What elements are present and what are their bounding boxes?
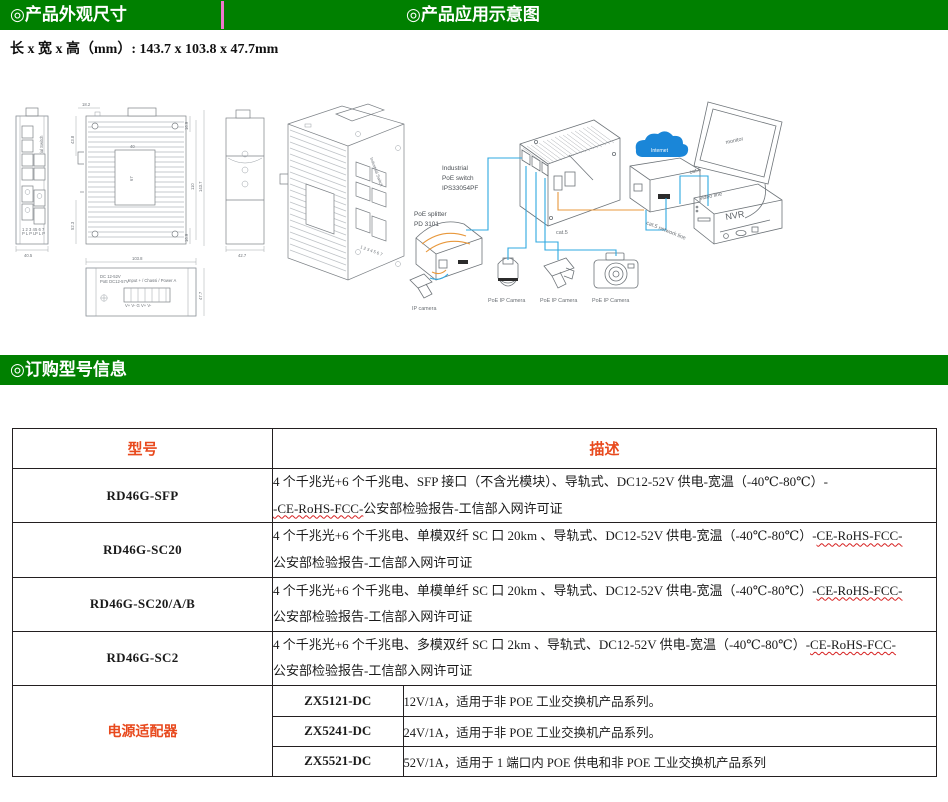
svg-text:V+ V- G V+ V-: V+ V- G V+ V- xyxy=(125,303,152,308)
technical-drawing-figure: Industrial Switch 1 2 3 4 5 xyxy=(0,88,420,328)
table-row: RD46G-SFP 4 个千兆光+6 个千兆电、SFP 接口（不含光模块）、导轨… xyxy=(13,469,937,523)
application-section-title: ◎产品应用示意图 xyxy=(406,0,540,30)
cat5-left-label: cat.5 xyxy=(556,230,568,236)
nvr-label: NVR xyxy=(725,209,746,222)
adapter-description: 52V/1A，适用于 1 端口内 POE 供电和非 POE 工业交换机产品系列 xyxy=(403,746,936,776)
view-top-heatsink: 40 67 18.2 43.8 52.3 16.9 xyxy=(70,102,204,246)
svg-text:110: 110 xyxy=(190,183,195,190)
desc-cert-marked: CE-RoHS-FCC- xyxy=(810,637,896,652)
video-line-label: video line xyxy=(699,191,723,202)
dimension-caption: 长 x 宽 x 高（mm）: 143.7 x 103.8 x 47.7mm xyxy=(10,38,278,58)
header-description: 描述 xyxy=(273,429,937,469)
svg-text:PoE DC12-57V: PoE DC12-57V xyxy=(100,279,129,284)
svg-text:143.7: 143.7 xyxy=(198,181,203,192)
adapter-model: ZX5521-DC xyxy=(273,746,403,776)
model-description: 4 个千兆光+6 个千兆电、多模双纤 SC 口 2km 、导轨式、DC12-52… xyxy=(273,631,937,685)
poe-camera-1: PoE IP Camera xyxy=(488,258,525,304)
desc-line-2: 公安部检验报告-工信部入网许可证 xyxy=(273,555,472,570)
adapter-subtable: ZX5121-DC 12V/1A，适用于非 POE 工业交换机产品系列。 ZX5… xyxy=(273,686,936,776)
camera-2-label: PoE IP Camera xyxy=(540,298,577,304)
poe-camera-3: PoE IP Camera xyxy=(592,253,638,304)
adapter-model: ZX5241-DC xyxy=(273,716,403,746)
router-box xyxy=(630,158,700,212)
application-diagram-figure: Industrial PoE switch IPS33054PF Interne… xyxy=(408,88,808,328)
desc-line-1: 4 个千兆光+6 个千兆电、多模双纤 SC 口 2km 、导轨式、DC12-52… xyxy=(273,637,810,652)
desc-line-1: 4 个千兆光+6 个千兆电、SFP 接口（不含光模块）、导轨式、DC12-52V… xyxy=(273,474,828,489)
svg-text:1 2 3 4 5 6 7: 1 2 3 4 5 6 7 xyxy=(360,244,384,257)
svg-text:Industrial Switch: Industrial Switch xyxy=(369,157,384,188)
desc-cert-marked: CE-RoHS-FCC- xyxy=(817,528,903,543)
adapter-subtable-cell: ZX5121-DC 12V/1A，适用于非 POE 工业交换机产品系列。 ZX5… xyxy=(273,686,937,777)
svg-text:16.9: 16.9 xyxy=(184,233,189,242)
camera-1-label: PoE IP Camera xyxy=(488,298,525,304)
industrial-switch-label-line1: Industrial xyxy=(442,165,468,172)
svg-text:Internet: Internet xyxy=(651,148,669,154)
nvr-illustration: NVR xyxy=(694,184,782,244)
view-isometric: Industrial Switch 1 2 3 4 5 6 7 xyxy=(280,104,404,280)
desc-line-2: 公安部检验报告-工信部入网许可证 xyxy=(363,501,562,516)
adapter-row: ZX5121-DC 12V/1A，适用于非 POE 工业交换机产品系列。 xyxy=(273,686,936,716)
model-description: 4 个千兆光+6 个千兆电、SFP 接口（不含光模块）、导轨式、DC12-52V… xyxy=(273,469,937,523)
adapter-description: 12V/1A，适用于非 POE 工业交换机产品系列。 xyxy=(403,686,936,716)
desc-line-2: 公安部检验报告-工信部入网许可证 xyxy=(273,609,472,624)
model-name: RD46G-SC2 xyxy=(13,631,273,685)
model-name: RD46G-SC20/A/B xyxy=(13,577,273,631)
ordering-section-header-bar: ◎订购型号信息 xyxy=(0,355,948,385)
adapter-group-row: 电源适配器 ZX5121-DC 12V/1A，适用于非 POE 工业交换机产品系… xyxy=(13,686,937,777)
view-bottom-terminal: DC 12-52V PoE DC12-57V Input + / Chassi … xyxy=(86,256,204,316)
model-description: 4 个千兆光+6 个千兆电、单模双纤 SC 口 20km 、导轨式、DC12-5… xyxy=(273,523,937,577)
header-divider xyxy=(221,1,224,29)
camera-3-label: PoE IP Camera xyxy=(592,298,629,304)
table-row: RD46G-SC20/A/B 4 个千兆光+6 个千兆电、单模单纤 SC 口 2… xyxy=(13,577,937,631)
table-header-row: 型号 描述 xyxy=(13,429,937,469)
model-description: 4 个千兆光+6 个千兆电、单模单纤 SC 口 20km 、导轨式、DC12-5… xyxy=(273,577,937,631)
view-side: 42.7 xyxy=(226,110,264,258)
adapter-row: ZX5521-DC 52V/1A，适用于 1 端口内 POE 供电和非 POE … xyxy=(273,746,936,776)
svg-text:42.7: 42.7 xyxy=(238,253,247,258)
header-model: 型号 xyxy=(13,429,273,469)
svg-text:40.5: 40.5 xyxy=(24,253,33,258)
poe-splitter-illustration: PoE splitter PD 3101 IP camera xyxy=(410,211,482,312)
svg-text:16.9: 16.9 xyxy=(184,121,189,130)
svg-text:18.2: 18.2 xyxy=(82,102,91,107)
desc-line-2: 公安部检验报告-工信部入网许可证 xyxy=(273,663,472,678)
svg-text:40: 40 xyxy=(130,144,135,149)
svg-text:P L P: P L P xyxy=(35,231,45,236)
view-front-ports: Industrial Switch 1 2 3 4 5 xyxy=(16,108,48,258)
desc-line-1: 4 个千兆光+6 个千兆电、单模双纤 SC 口 20km 、导轨式、DC12-5… xyxy=(273,528,817,543)
monitor-illustration: monitor xyxy=(694,102,782,218)
adapter-description: 24V/1A，适用于非 POE 工业交换机产品系列。 xyxy=(403,716,936,746)
svg-text:43.8: 43.8 xyxy=(70,135,75,144)
svg-text:67: 67 xyxy=(129,176,134,181)
table-row: RD46G-SC2 4 个千兆光+6 个千兆电、多模双纤 SC 口 2km 、导… xyxy=(13,631,937,685)
table-row: RD46G-SC20 4 个千兆光+6 个千兆电、单模双纤 SC 口 20km … xyxy=(13,523,937,577)
adapter-row: ZX5241-DC 24V/1A，适用于非 POE 工业交换机产品系列。 xyxy=(273,716,936,746)
svg-text:47.7: 47.7 xyxy=(198,291,203,300)
poe-camera-2: PoE IP Camera xyxy=(540,258,577,304)
model-name: RD46G-SFP xyxy=(13,469,273,523)
ordering-section-title: ◎订购型号信息 xyxy=(10,355,127,385)
desc-line-1: 4 个千兆光+6 个千兆电、单模单纤 SC 口 20km 、导轨式、DC12-5… xyxy=(273,583,817,598)
svg-text:P L P L: P L P L xyxy=(22,231,36,236)
industrial-switch-label-line3: IPS33054PF xyxy=(442,185,478,192)
svg-text:Input + / Chassi / Power A: Input + / Chassi / Power A xyxy=(128,278,177,283)
top-section-header-bar: ◎产品外观尺寸 ◎产品应用示意图 xyxy=(0,0,948,30)
poe-splitter-label-line1: PoE splitter xyxy=(414,211,448,218)
adapter-model: ZX5121-DC xyxy=(273,686,403,716)
model-name: RD46G-SC20 xyxy=(13,523,273,577)
dimensions-section-title: ◎产品外观尺寸 xyxy=(10,0,127,30)
desc-cert-marked: CE-RoHS-FCC- xyxy=(817,583,903,598)
desc-cert-marked: -CE-RoHS-FCC- xyxy=(273,501,363,516)
poe-splitter-label-line2: PD 3101 xyxy=(414,221,439,228)
ordering-info-table: 型号 描述 RD46G-SFP 4 个千兆光+6 个千兆电、SFP 接口（不含光… xyxy=(12,428,937,777)
ip-camera-label: IP camera xyxy=(412,306,436,312)
adapter-group-label: 电源适配器 xyxy=(13,686,273,777)
cloud-icon: Internet xyxy=(636,131,688,157)
product-datasheet-page: ◎产品外观尺寸 ◎产品应用示意图 长 x 宽 x 高（mm）: 143.7 x … xyxy=(0,0,948,802)
svg-text:52.3: 52.3 xyxy=(70,221,75,230)
svg-text:103.8: 103.8 xyxy=(132,256,143,261)
monitor-label: monitor xyxy=(725,136,744,146)
industrial-switch-label-line2: PoE switch xyxy=(442,175,474,182)
